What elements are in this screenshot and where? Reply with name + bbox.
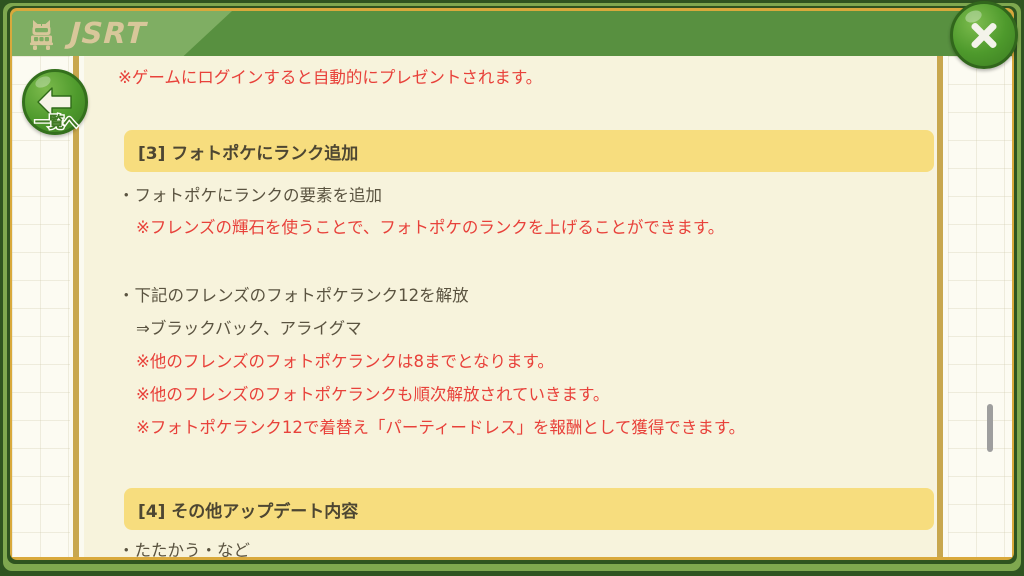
app-logo-text: JSRT — [69, 19, 147, 48]
gold-rule-right — [934, 56, 948, 557]
back-button[interactable]: 一覧へ 一覧へ — [22, 69, 88, 135]
content-line-4: ⇒ブラックバック、アライグマ — [136, 317, 362, 341]
graph-paper-margin-right — [948, 56, 1012, 557]
section-banner-3-label: [3] フォトポケにランク追加 — [138, 139, 358, 164]
content-line-7: ※フォトポケランク12で着替え「パーティードレス」を報酬として獲得できます。 — [136, 416, 745, 440]
content-line-5: ※他のフレンズのフォトポケランクは8までとなります。 — [136, 350, 554, 374]
page-sheet: ※ゲームにログインすると自動的にプレゼントされます。 [3] フォトポケにランク… — [12, 56, 1012, 557]
scrollable-content[interactable]: ※ゲームにログインすると自動的にプレゼントされます。 [3] フォトポケにランク… — [84, 56, 934, 557]
content-line-2: ※フレンズの輝石を使うことで、フォトポケのランクを上げることができます。 — [136, 216, 724, 240]
scrollbar-thumb[interactable] — [987, 404, 993, 452]
close-button[interactable] — [950, 1, 1018, 69]
section-banner-4: [4] その他アップデート内容 — [124, 488, 934, 530]
content-line-3: ・下記のフレンズのフォトポケランク12を解放 — [118, 284, 469, 308]
content-line-1: ・フォトポケにランクの要素を追加 — [118, 184, 382, 208]
section-banner-4-label: [4] その他アップデート内容 — [138, 497, 358, 522]
content-line-6: ※他のフレンズのフォトポケランクも順次解放されていきます。 — [136, 383, 609, 407]
back-button-label: 一覧へ — [18, 111, 94, 132]
scrollbar-track[interactable] — [986, 56, 994, 557]
animal-face-icon — [28, 17, 62, 51]
top-notice-text: ※ゲームにログインすると自動的にプレゼントされます。 — [118, 66, 542, 90]
section-banner-3: [3] フォトポケにランク追加 — [124, 130, 934, 172]
app-logo: JSRT — [28, 11, 147, 56]
window-header-bar: JSRT — [12, 11, 1012, 56]
content-line-8: ・たたかう・など — [118, 539, 250, 557]
update-notice-window: JSRT ※ゲームにログインすると自動的にプレゼントされます。 [3] フォトポ… — [0, 0, 1024, 576]
